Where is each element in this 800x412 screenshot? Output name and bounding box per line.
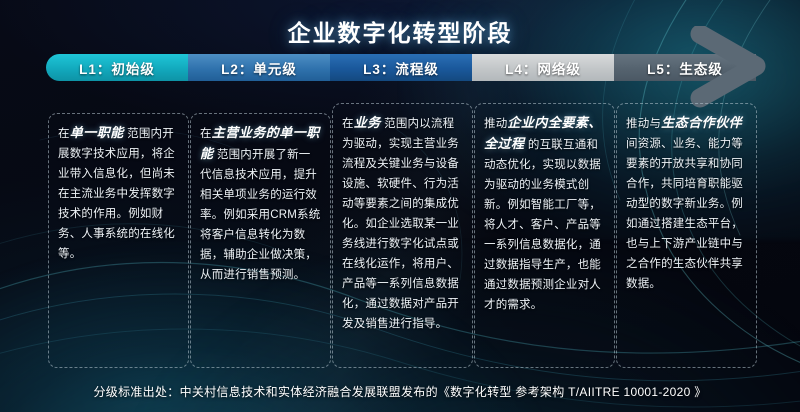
level-segment-l3[interactable]: L3：流程级 (330, 54, 472, 81)
level-card-l2-lead: 在 (200, 128, 212, 140)
level-segment-l1-label: L1：初始级 (79, 58, 155, 78)
level-card-l5: 推动与生态合作伙伴 间资源、业务、能力等要素的开放共享和协同合作，共同培育职能驱… (616, 103, 757, 368)
level-card-l3-lead: 在 (342, 118, 354, 130)
page-title: 企业数字化转型阶段 (0, 14, 800, 48)
chevron-right-icon (686, 26, 782, 108)
level-segment-l1[interactable]: L1：初始级 (46, 54, 188, 81)
level-card-l2-body: 范围内开展了新一代信息技术应用，提升相关单项业务的运行效率。例如采用CRM系统将… (200, 149, 320, 281)
source-note: 分级标准出处：中关村信息技术和实体经济融合发展联盟发布的《数字化转型 参考架构 … (0, 383, 800, 400)
level-card-l5-body: 间资源、业务、能力等要素的开放共享和协同合作，共同培育职能驱动型的数字新业务。例… (626, 138, 743, 290)
level-card-l1-body: 范围内开展数字技术应用，将企业带入信息化，但尚未在主流业务中发挥数字技术的作用。… (58, 128, 175, 260)
level-segment-l2-label: L2：单元级 (221, 58, 297, 78)
level-card-l5-emphasis: 生态合作伙伴 (661, 115, 742, 130)
level-card-l4: 推动企业内全要素、全过程 的互联互通和动态优化，实现以数据为驱动的业务模式创新。… (474, 103, 615, 368)
level-card-l3-body: 范围内以流程为驱动，实现主营业务流程及关键业务与设备设施、软硬件、行为活动等要素… (342, 118, 459, 330)
level-card-l2: 在主营业务的单一职能 范围内开展了新一代信息技术应用，提升相关单项业务的运行效率… (190, 113, 331, 368)
level-card-l2-text: 在主营业务的单一职能 范围内开展了新一代信息技术应用，提升相关单项业务的运行效率… (200, 123, 321, 285)
level-card-l4-text: 推动企业内全要素、全过程 的互联互通和动态优化，实现以数据为驱动的业务模式创新。… (484, 113, 605, 315)
slide-canvas: 企业数字化转型阶段 L1：初始级 L2：单元级 L3：流程级 L4：网络级 L5… (0, 0, 800, 412)
level-card-l3-text: 在业务 范围内以流程为驱动，实现主营业务流程及关键业务与设备设施、软硬件、行为活… (342, 113, 463, 334)
level-card-l5-lead: 推动与 (626, 118, 661, 130)
level-card-l1-emphasis: 单一职能 (70, 125, 124, 140)
level-card-l4-lead: 推动 (484, 118, 507, 130)
level-card-l4-body: 的互联互通和动态优化，实现以数据为驱动的业务模式创新。例如智能工厂等，将人才、客… (484, 139, 601, 311)
level-card-l1: 在单一职能 范围内开展数字技术应用，将企业带入信息化，但尚未在主流业务中发挥数字… (48, 113, 189, 368)
maturity-level-bar: L1：初始级 L2：单元级 L3：流程级 L4：网络级 L5：生态级 (46, 54, 756, 81)
level-card-l1-text: 在单一职能 范围内开展数字技术应用，将企业带入信息化，但尚未在主流业务中发挥数字… (58, 123, 179, 264)
level-card-l3: 在业务 范围内以流程为驱动，实现主营业务流程及关键业务与设备设施、软硬件、行为活… (332, 103, 473, 368)
level-segment-l2[interactable]: L2：单元级 (188, 54, 330, 81)
level-card-l3-emphasis: 业务 (354, 115, 381, 130)
level-segment-l3-label: L3：流程级 (363, 58, 439, 78)
level-card-l5-text: 推动与生态合作伙伴 间资源、业务、能力等要素的开放共享和协同合作，共同培育职能驱… (626, 113, 747, 294)
level-segment-l4[interactable]: L4：网络级 (472, 54, 614, 81)
level-card-l1-lead: 在 (58, 128, 70, 140)
level-segment-l4-label: L4：网络级 (505, 58, 581, 78)
